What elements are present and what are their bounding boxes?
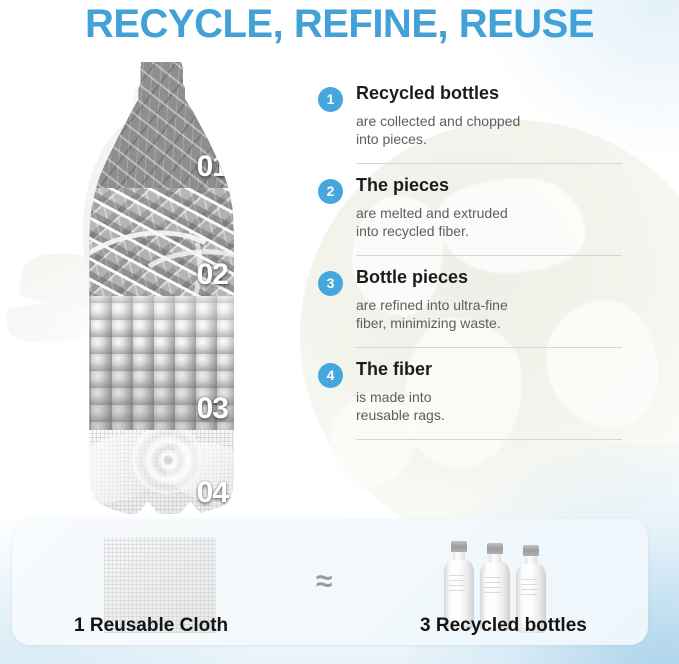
bottle-band-01: 01 bbox=[80, 62, 242, 188]
step-item: 2 The pieces are melted and extruded int… bbox=[318, 174, 618, 266]
step-title: The pieces bbox=[356, 174, 618, 196]
step-description: are melted and extruded into recycled fi… bbox=[356, 204, 618, 240]
bottle-ribs bbox=[521, 575, 537, 595]
step-description: is made into reusable rags. bbox=[356, 388, 618, 424]
step-body: Recycled bottles are collected and chopp… bbox=[356, 82, 618, 148]
comparison-left-label: 1 Reusable Cloth bbox=[74, 615, 228, 637]
step-number-badge: 3 bbox=[318, 271, 343, 296]
infographic-root: RECYCLE, REFINE, REUSE 01 02 03 bbox=[0, 0, 679, 664]
bottle-cap bbox=[487, 543, 503, 554]
bottle-cap bbox=[451, 541, 467, 552]
bottle-stages-graphic: 01 02 03 04 bbox=[80, 62, 242, 514]
step-body: The fiber is made into reusable rags. bbox=[356, 358, 618, 424]
step-number-badge: 1 bbox=[318, 87, 343, 112]
comparison-panel: ≈ 1 Reusable Cloth 3 Recycled bbox=[12, 519, 648, 645]
page-title: RECYCLE, REFINE, REUSE bbox=[0, 2, 679, 47]
bottle-ribs bbox=[485, 573, 501, 593]
step-item: 3 Bottle pieces are refined into ultra-f… bbox=[318, 266, 618, 358]
step-description: are collected and chopped into pieces. bbox=[356, 112, 618, 148]
step-title: The fiber bbox=[356, 358, 618, 380]
step-description: are refined into ultra-fine fiber, minim… bbox=[356, 296, 618, 332]
step-divider bbox=[356, 347, 622, 348]
step-number-badge: 4 bbox=[318, 363, 343, 388]
bottle-band-04: 04 bbox=[80, 430, 242, 514]
step-title: Recycled bottles bbox=[356, 82, 618, 104]
step-number-badge: 2 bbox=[318, 179, 343, 204]
step-divider bbox=[356, 439, 622, 440]
step-divider bbox=[356, 255, 622, 256]
bottle-cap bbox=[523, 545, 539, 556]
comparison-right-label: 3 Recycled bottles bbox=[420, 615, 587, 637]
bottle-band-03: 03 bbox=[80, 296, 242, 430]
bottle-band-number: 02 bbox=[197, 258, 228, 292]
bottle-band-number: 01 bbox=[197, 150, 228, 184]
step-item: 4 The fiber is made into reusable rags. bbox=[318, 358, 618, 450]
bottle-band-02: 02 bbox=[80, 188, 242, 296]
step-body: The pieces are melted and extruded into … bbox=[356, 174, 618, 240]
bottle-band-number: 03 bbox=[197, 392, 228, 426]
bottle-silhouette: 01 02 03 04 bbox=[80, 62, 242, 514]
step-divider bbox=[356, 163, 622, 164]
step-title: Bottle pieces bbox=[356, 266, 618, 288]
step-item: 1 Recycled bottles are collected and cho… bbox=[318, 82, 618, 174]
step-body: Bottle pieces are refined into ultra-fin… bbox=[356, 266, 618, 332]
approximately-equal-icon: ≈ bbox=[316, 567, 332, 597]
bottle-band-number: 04 bbox=[197, 476, 228, 510]
steps-list: 1 Recycled bottles are collected and cho… bbox=[318, 82, 618, 450]
bottle-ribs bbox=[449, 571, 465, 591]
